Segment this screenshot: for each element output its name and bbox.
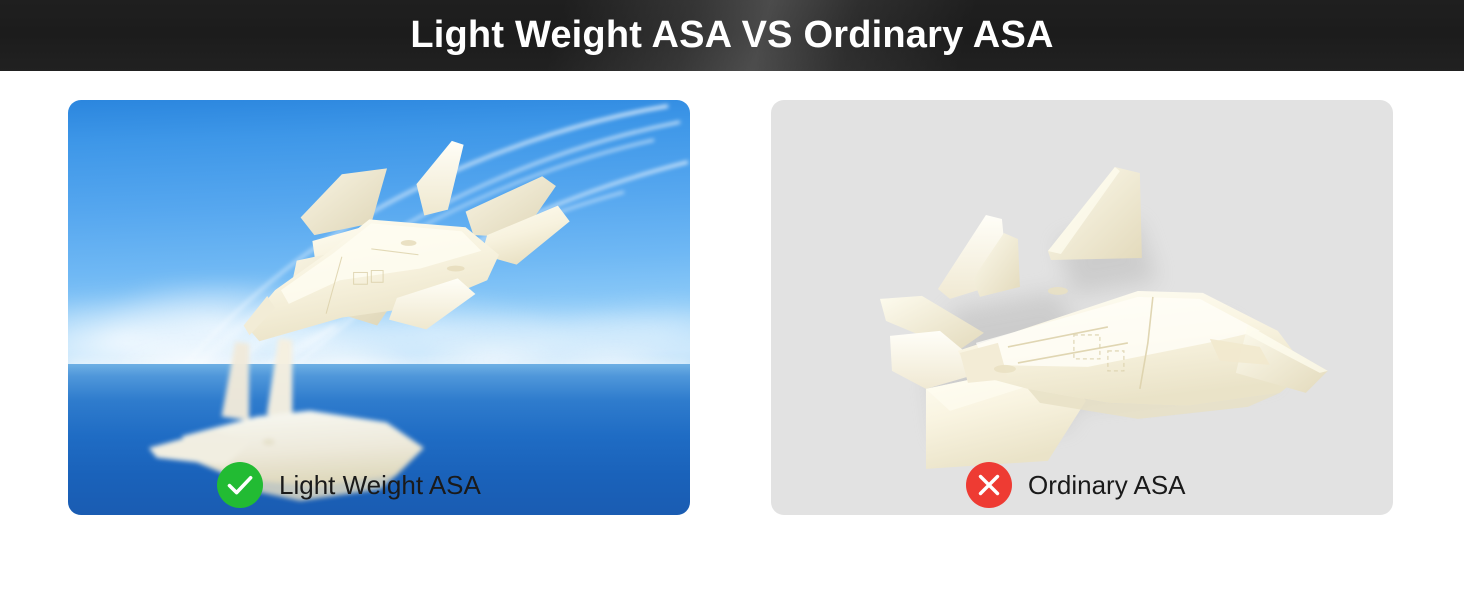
x-circle-icon bbox=[966, 462, 1012, 508]
caption-label-ordinary-asa: Ordinary ASA bbox=[1028, 472, 1186, 498]
page-title: Light Weight ASA VS Ordinary ASA bbox=[410, 16, 1053, 54]
caption-ordinary-asa: Ordinary ASA bbox=[966, 461, 1186, 509]
caption-label-light-weight-asa: Light Weight ASA bbox=[279, 472, 481, 498]
check-circle-icon bbox=[217, 462, 263, 508]
panel-ordinary-asa bbox=[771, 100, 1393, 515]
header-banner: Light Weight ASA VS Ordinary ASA bbox=[0, 0, 1464, 71]
caption-light-weight-asa: Light Weight ASA bbox=[217, 461, 481, 509]
comparison-panels bbox=[0, 71, 1464, 600]
jet-model-studio bbox=[808, 121, 1368, 478]
panel-light-weight-asa bbox=[68, 100, 690, 515]
